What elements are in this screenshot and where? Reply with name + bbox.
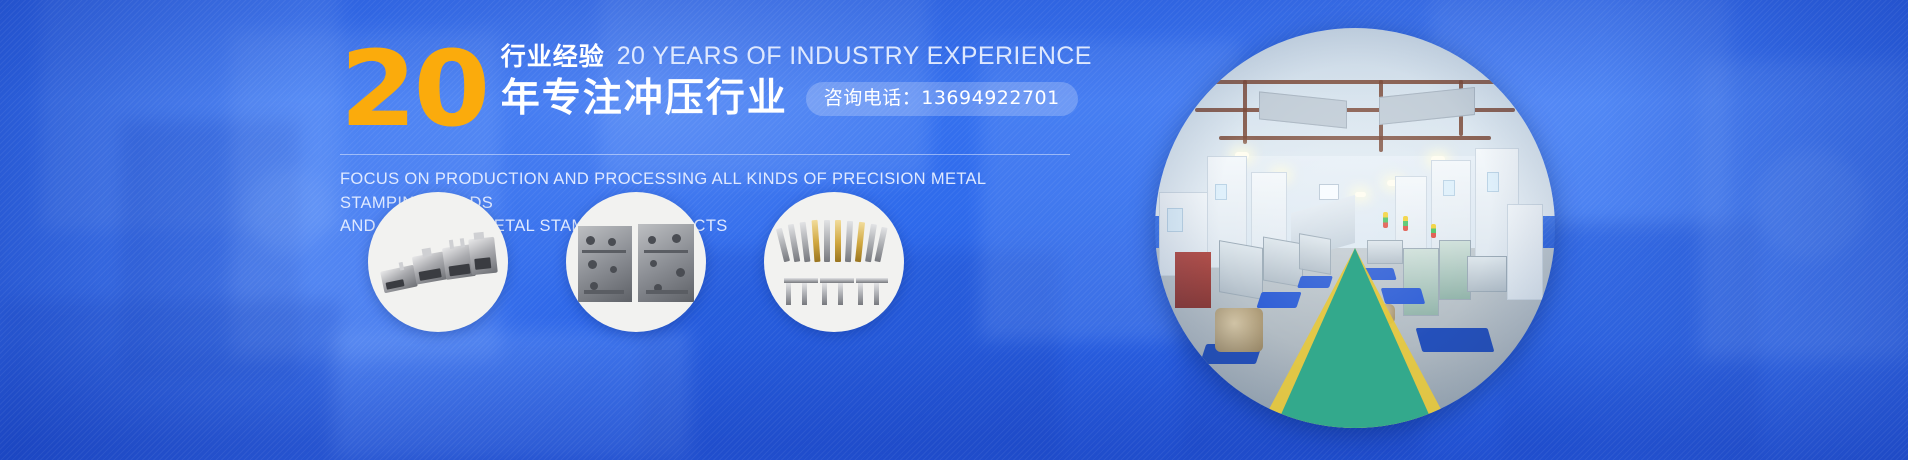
headline-line-2: 年专注冲压行业 咨询电话：13694922701 xyxy=(501,79,1092,120)
machine-signal-tower xyxy=(1383,212,1388,228)
product-circle-row xyxy=(368,192,904,332)
headline-row: 20 行业经验 20 YEARS OF INDUSTRY EXPERIENCE … xyxy=(340,40,1100,133)
headline-cn-industry: 年专注冲压行业 xyxy=(501,79,788,120)
years-number: 20 xyxy=(340,46,487,133)
machine-signal-tower xyxy=(1431,224,1436,238)
headline-text-group: 行业经验 20 YEARS OF INDUSTRY EXPERIENCE 年专注… xyxy=(501,40,1092,120)
product-circle-usb-connectors xyxy=(368,192,508,332)
phone-badge[interactable]: 咨询电话：13694922701 xyxy=(806,82,1078,116)
machine-signal-tower xyxy=(1403,216,1408,231)
phone-badge-text: 咨询电话：13694922701 xyxy=(824,89,1060,108)
divider-line xyxy=(340,154,1070,155)
headline-line-1: 行业经验 20 YEARS OF INDUSTRY EXPERIENCE xyxy=(501,44,1092,69)
ceiling-pipe-vertical xyxy=(1243,80,1247,144)
factory-cabinet xyxy=(1507,204,1543,300)
metal-terminals-image xyxy=(764,192,904,332)
factory-green-aisle xyxy=(1275,248,1435,428)
ceiling-light xyxy=(1355,192,1366,197)
headline-en-experience: 20 YEARS OF INDUSTRY EXPERIENCE xyxy=(617,44,1092,69)
stamping-press xyxy=(1219,240,1263,300)
factory-wall-sign xyxy=(1167,208,1183,232)
factory-wall-sign xyxy=(1215,184,1227,200)
ceiling-pipe xyxy=(1219,136,1491,140)
factory-window xyxy=(1319,184,1339,200)
headline-cn-experience: 行业经验 xyxy=(501,44,605,69)
stamping-press xyxy=(1175,252,1211,308)
steel-coil xyxy=(1215,308,1263,352)
ceiling-pipe xyxy=(1179,80,1531,84)
work-table xyxy=(1467,256,1507,292)
product-circle-metal-terminals xyxy=(764,192,904,332)
factory-photo-circle xyxy=(1155,28,1555,428)
factory-wall-sign xyxy=(1443,180,1455,196)
stamping-mold-image xyxy=(566,192,706,332)
factory-wall-sign xyxy=(1487,172,1499,192)
usb-connectors-image xyxy=(368,192,508,332)
promo-banner: 20 行业经验 20 YEARS OF INDUSTRY EXPERIENCE … xyxy=(0,0,1908,460)
product-circle-stamping-mold xyxy=(566,192,706,332)
